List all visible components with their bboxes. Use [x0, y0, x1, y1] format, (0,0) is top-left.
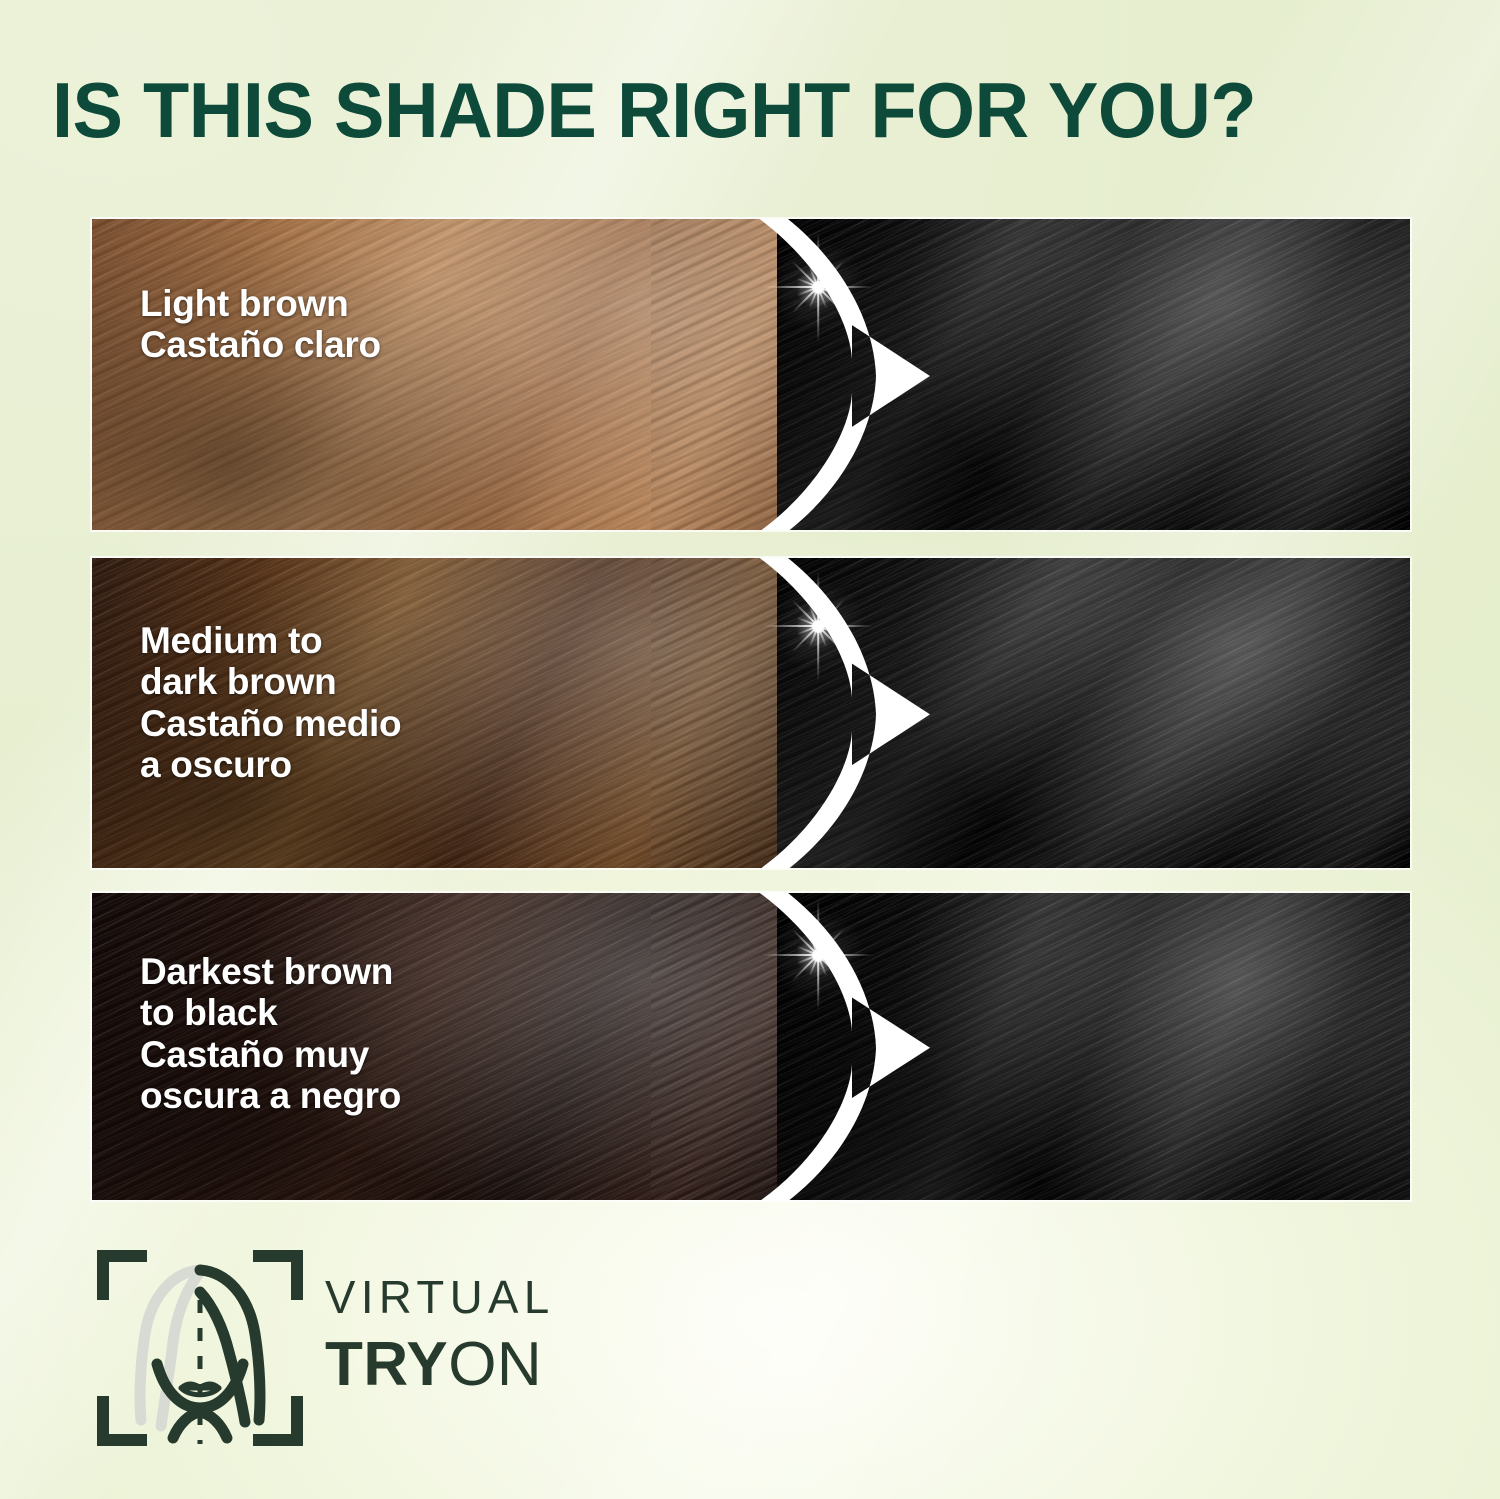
result-hair-swatch-black	[777, 893, 1410, 1200]
wordmark-on: ON	[448, 1330, 542, 1399]
footer: VIRTUAL TRYON TRY ON YOUR SHADE AT GARNI…	[0, 1232, 1500, 1462]
shade-panel-darkest-brown-black[interactable]: Darkest brown to black Castaño muy oscur…	[92, 893, 1410, 1200]
shade-panel-medium-dark-brown[interactable]: Medium to dark brown Castaño medio a osc…	[92, 558, 1410, 868]
face-scan-icon	[95, 1248, 305, 1448]
shade-panel-label: Light brown Castaño claro	[140, 283, 381, 366]
hair-sheen-overlay	[777, 219, 1410, 530]
page-title: IS THIS SHADE RIGHT FOR YOU?	[52, 72, 1410, 148]
virtual-try-on-wordmark: VIRTUAL TRYON	[325, 1274, 557, 1396]
wordmark-virtual: VIRTUAL	[325, 1274, 555, 1320]
shade-panel-label: Darkest brown to black Castaño muy oscur…	[140, 951, 401, 1117]
hair-sheen-overlay	[777, 558, 1410, 868]
wordmark-try: TRY	[325, 1330, 448, 1399]
result-hair-swatch-black	[777, 558, 1410, 868]
hair-sheen-overlay	[777, 893, 1410, 1200]
wordmark-tryon: TRYON	[325, 1334, 557, 1396]
shade-panel-light-brown[interactable]: Light brown Castaño claro	[92, 219, 1410, 530]
shade-panel-label: Medium to dark brown Castaño medio a osc…	[140, 620, 401, 786]
result-hair-swatch-black	[777, 219, 1410, 530]
promo-image-root: IS THIS SHADE RIGHT FOR YOU?	[0, 0, 1500, 1499]
